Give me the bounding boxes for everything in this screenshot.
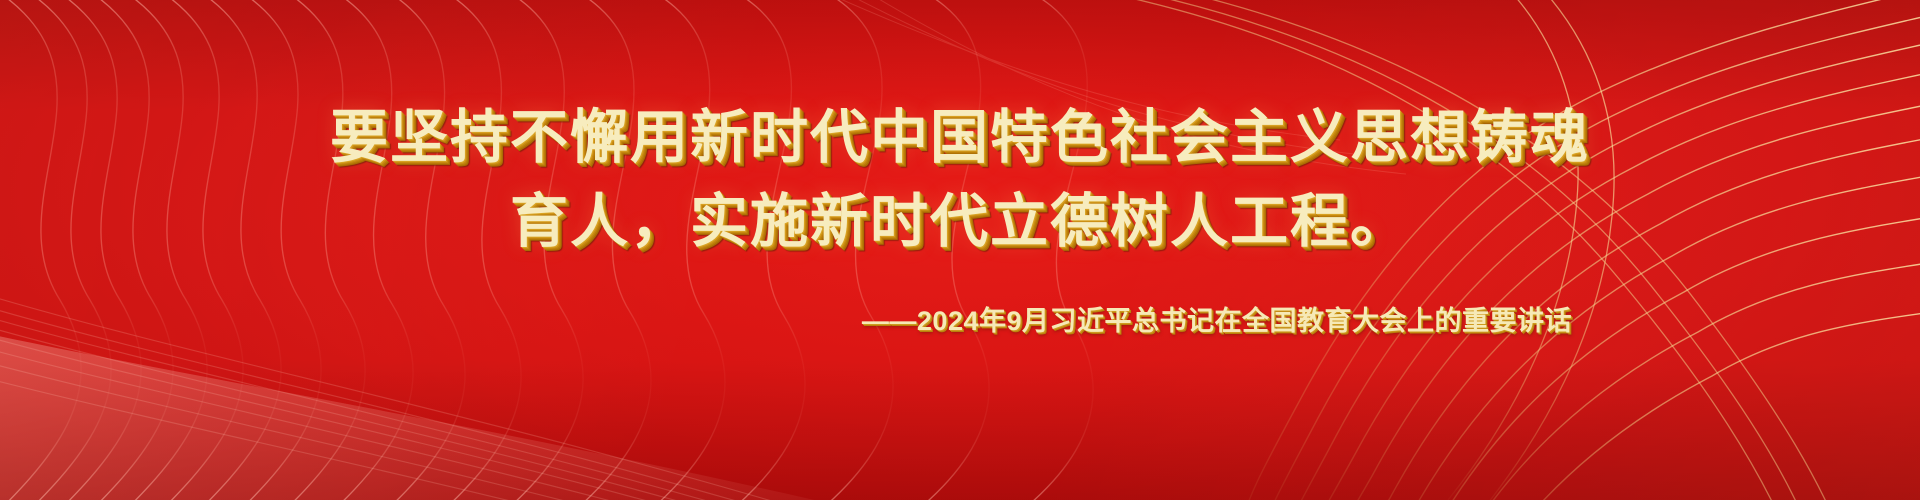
banner-root: 要坚持不懈用新时代中国特色社会主义思想铸魂育人，实施新时代立德树人工程。 ——2…	[0, 0, 1920, 500]
banner-content: 要坚持不懈用新时代中国特色社会主义思想铸魂育人，实施新时代立德树人工程。 ——2…	[0, 0, 1920, 500]
headline-text: 要坚持不懈用新时代中国特色社会主义思想铸魂育人，实施新时代立德树人工程。	[330, 96, 1590, 264]
attribution-text: ——2024年9月习近平总书记在全国教育大会上的重要讲话	[330, 302, 1590, 340]
